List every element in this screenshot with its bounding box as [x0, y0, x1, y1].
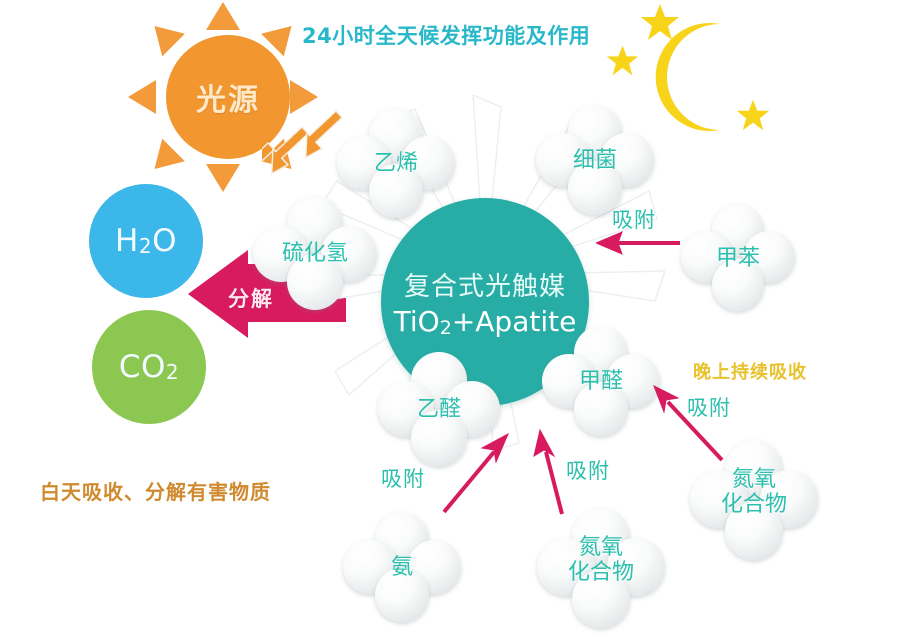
- star-icon: [606, 44, 639, 77]
- adsorb-label: 吸附: [687, 392, 731, 422]
- page-title: 24小时全天候发挥功能及作用: [302, 20, 642, 50]
- star-icon: [736, 98, 770, 132]
- molecule-hydrogen-sulfide: 硫化氢: [253, 196, 377, 312]
- molecule-toluene: 甲苯: [681, 204, 795, 314]
- caption-daytime: 白天吸收、分解有害物质: [40, 476, 271, 505]
- molecule-bacteria: 细菌: [536, 105, 654, 217]
- adsorb-label: 吸附: [566, 455, 610, 485]
- adsorb-label: 吸附: [381, 463, 425, 493]
- center-title-cn: 复合式光触媒: [404, 266, 566, 303]
- molecule-nitrogen-oxides-bottom: 氮氧 化合物: [537, 508, 665, 630]
- sun-label: 光源: [196, 75, 260, 119]
- molecule-formaldehyde: 甲醛: [542, 326, 660, 438]
- star-icon: [640, 2, 680, 42]
- adsorb-label: 吸附: [612, 204, 656, 234]
- diagram-canvas: 装修在线 装修在线 装修在线 装修在线 光源 24小时全: [0, 0, 900, 640]
- molecule-ammonia: 氨: [343, 512, 461, 624]
- h2o-label: H2O: [115, 223, 177, 259]
- co2-label: CO2: [119, 349, 179, 385]
- adsorb-arrow-ammonia-icon: [438, 430, 510, 516]
- caption-nighttime: 晚上持续吸收: [693, 358, 807, 384]
